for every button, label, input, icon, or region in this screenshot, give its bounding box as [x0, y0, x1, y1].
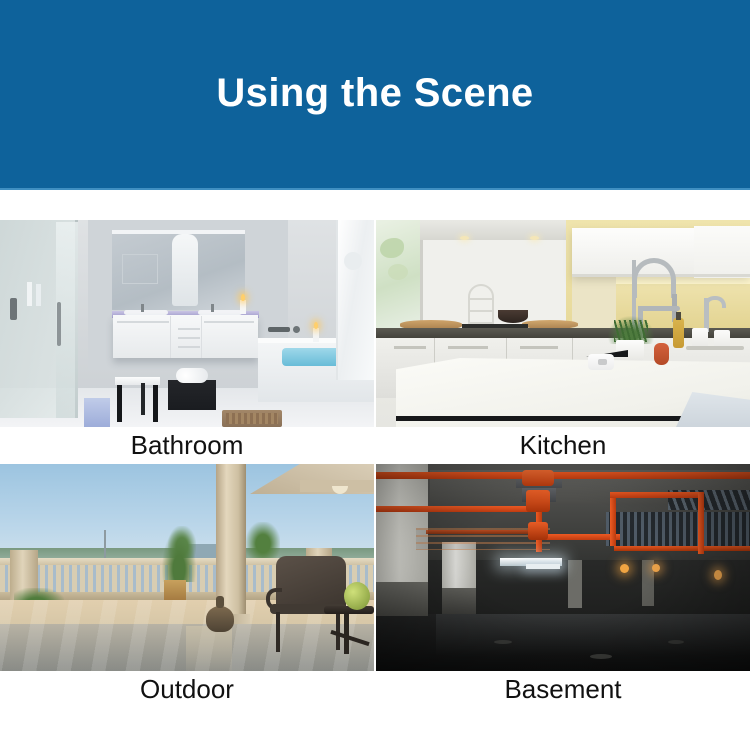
kitchen-dark-bowl	[498, 310, 528, 323]
outdoor-potted-palm	[162, 530, 196, 582]
bathroom-hanging-towel	[172, 234, 198, 306]
kitchen-photo	[376, 220, 750, 427]
bathroom-shower-door-handle	[57, 302, 61, 346]
bathroom-drawer-handle-2	[204, 321, 254, 323]
header-banner: Using the Scene	[0, 0, 750, 190]
bathroom-drawer-handle-1	[117, 321, 169, 323]
kitchen-hood-light-2	[530, 236, 539, 240]
kitchen-dish-rack-bar-1	[468, 298, 494, 300]
bathroom-cabinet-divider-right	[201, 316, 202, 358]
bathroom-blue-floor-reflection	[84, 398, 110, 427]
bathroom-shower-head	[10, 298, 17, 320]
kitchen-cabinet-handle-3	[520, 346, 558, 349]
bathroom-bathtub-knob	[293, 326, 300, 333]
outdoor-planter-pot	[164, 580, 186, 602]
page-title: Using the Scene	[216, 73, 533, 113]
bathroom-floor-mat-texture	[226, 413, 278, 424]
basement-vignette	[376, 464, 750, 671]
bathroom-candle-2	[313, 328, 319, 342]
bathroom-stool-leg-2	[153, 385, 158, 422]
kitchen-third-faucet-body	[704, 298, 709, 332]
bathroom-stool-leg-1	[117, 385, 122, 422]
outdoor-garden-ornament-top	[216, 596, 224, 608]
bathroom-tap-left	[141, 304, 144, 312]
kitchen-herb-leaves	[614, 320, 648, 342]
bathroom-shower-curtain	[336, 220, 374, 380]
bathroom-dark-storage-box	[168, 380, 216, 410]
bathroom-candle-flame-1	[241, 294, 245, 301]
kitchen-hood-light-1	[460, 236, 469, 240]
bathroom-stool-top	[115, 377, 160, 385]
scene-label-bathroom: Bathroom	[0, 427, 374, 463]
kitchen-bottle-neck	[676, 312, 681, 320]
kitchen-second-faucet-spout	[638, 306, 680, 311]
outdoor-garden-ornament	[206, 606, 234, 632]
scene-card-bathroom[interactable]: Bathroom	[0, 220, 374, 463]
scene-grid: Bathroom	[0, 220, 750, 707]
kitchen-foliage-2	[388, 264, 408, 280]
outdoor-distant-mast	[104, 530, 106, 558]
scene-label-basement: Basement	[376, 671, 750, 707]
kitchen-appliance-display	[598, 359, 607, 365]
kitchen-cabinet-handle-2	[448, 346, 488, 349]
bathroom-bottle-1	[27, 282, 32, 306]
kitchen-plant-pot	[616, 340, 644, 362]
basement-photo	[376, 464, 750, 671]
bathroom-bottle-2	[36, 284, 41, 306]
outdoor-photo	[0, 464, 374, 671]
bathroom-stool-leg-3	[141, 383, 145, 415]
bathroom-curtain-tieback	[344, 252, 362, 270]
outdoor-patio-chair-leg-1	[276, 612, 280, 652]
kitchen-dish-rack	[468, 284, 494, 324]
bathroom-cabinet-divider-left	[170, 316, 171, 358]
kitchen-dish-rack-bar-2	[468, 310, 494, 312]
scene-label-kitchen: Kitchen	[376, 427, 750, 463]
bathroom-drawer-handle-4	[178, 337, 200, 339]
outdoor-palm-tree-2	[246, 522, 280, 558]
scene-card-kitchen[interactable]: Kitchen	[376, 220, 750, 463]
bathroom-photo	[0, 220, 374, 427]
kitchen-range-hood	[420, 220, 566, 240]
bathroom-tap-right	[211, 304, 214, 312]
scene-card-basement[interactable]: Basement	[376, 464, 750, 707]
bathroom-rolled-towels	[176, 368, 208, 383]
bathroom-drawer-handle-3	[178, 328, 200, 330]
outdoor-column-reflection	[186, 626, 232, 671]
header-gap	[0, 190, 750, 220]
scene-label-outdoor: Outdoor	[0, 671, 374, 707]
bathroom-candle-1	[240, 300, 246, 314]
bathroom-mirror-reflection	[122, 254, 158, 284]
kitchen-cabinet-handle-1	[394, 346, 426, 349]
bathroom-drawer-handle-5	[178, 346, 200, 348]
kitchen-gooseneck-faucet	[632, 258, 676, 298]
kitchen-counter-tray	[686, 346, 744, 350]
bathroom-candle-flame-2	[314, 322, 318, 329]
kitchen-canister-1	[692, 328, 708, 348]
bathroom-bathtub-tap	[268, 327, 290, 332]
kitchen-oil-bottle	[673, 318, 684, 348]
page-root: Using the Scene	[0, 0, 750, 750]
scene-card-outdoor[interactable]: Outdoor	[0, 464, 374, 707]
outdoor-decorative-glass-globe	[344, 582, 370, 610]
kitchen-upper-cabinet-right	[694, 226, 750, 278]
kitchen-terracotta-vase	[654, 343, 669, 365]
